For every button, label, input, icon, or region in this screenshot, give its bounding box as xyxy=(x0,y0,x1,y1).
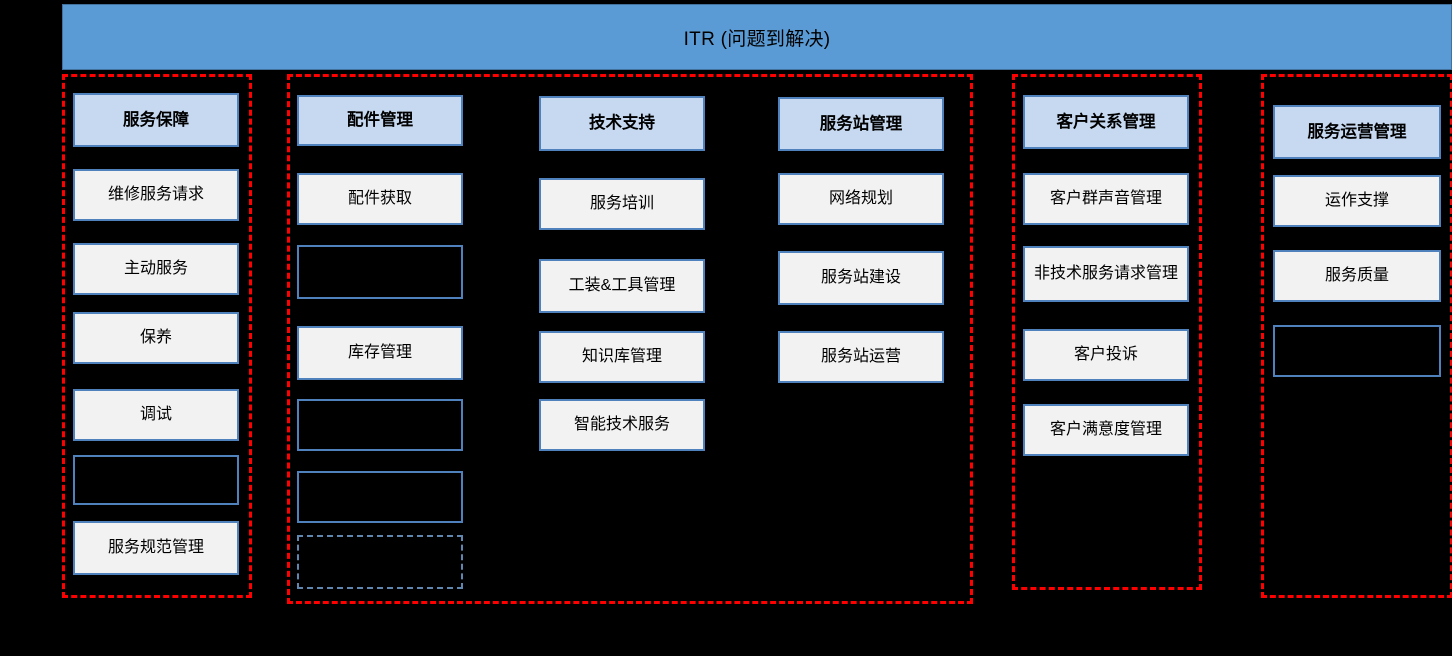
node-service-station-management-1[interactable]: 服务站建设 xyxy=(778,251,944,305)
node-service-operations-management-1[interactable]: 服务质量 xyxy=(1273,250,1441,302)
node-service-assurance-1[interactable]: 主动服务 xyxy=(73,243,239,295)
column-header-service-assurance[interactable]: 服务保障 xyxy=(73,93,239,147)
node-technical-support-1[interactable]: 工装&工具管理 xyxy=(539,259,705,313)
column-header-technical-support[interactable]: 技术支持 xyxy=(539,96,705,151)
node-technical-support-0[interactable]: 服务培训 xyxy=(539,178,705,230)
column-header-service-station-management[interactable]: 服务站管理 xyxy=(778,97,944,151)
node-empty-service-operations-management-2[interactable] xyxy=(1273,325,1441,377)
node-service-operations-management-0[interactable]: 运作支撑 xyxy=(1273,175,1441,227)
node-service-station-management-0[interactable]: 网络规划 xyxy=(778,173,944,225)
node-empty-parts-management-4[interactable] xyxy=(297,471,463,523)
node-customer-relationship-management-2[interactable]: 客户投诉 xyxy=(1023,329,1189,381)
node-empty-service-assurance-4[interactable] xyxy=(73,455,239,505)
node-service-assurance-5[interactable]: 服务规范管理 xyxy=(73,521,239,575)
node-empty-parts-management-1[interactable] xyxy=(297,245,463,299)
node-service-assurance-0[interactable]: 维修服务请求 xyxy=(73,169,239,221)
node-service-assurance-2[interactable]: 保养 xyxy=(73,312,239,364)
node-service-assurance-3[interactable]: 调试 xyxy=(73,389,239,441)
itr-banner: ITR (问题到解决) xyxy=(62,4,1452,70)
diagram-canvas: ITR (问题到解决) 服务保障维修服务请求主动服务保养调试服务规范管理配件管理… xyxy=(0,0,1452,656)
node-service-station-management-2[interactable]: 服务站运营 xyxy=(778,331,944,383)
node-customer-relationship-management-1[interactable]: 非技术服务请求管理 xyxy=(1023,246,1189,302)
column-header-service-operations-management[interactable]: 服务运营管理 xyxy=(1273,105,1441,159)
node-empty-parts-management-3[interactable] xyxy=(297,399,463,451)
node-customer-relationship-management-3[interactable]: 客户满意度管理 xyxy=(1023,404,1189,456)
node-technical-support-2[interactable]: 知识库管理 xyxy=(539,331,705,383)
node-customer-relationship-management-0[interactable]: 客户群声音管理 xyxy=(1023,173,1189,225)
banner-title: ITR (问题到解决) xyxy=(684,24,831,51)
column-header-parts-management[interactable]: 配件管理 xyxy=(297,95,463,146)
column-header-customer-relationship-management[interactable]: 客户关系管理 xyxy=(1023,95,1189,149)
node-parts-management-2[interactable]: 库存管理 xyxy=(297,326,463,380)
node-technical-support-3[interactable]: 智能技术服务 xyxy=(539,399,705,451)
node-parts-management-0[interactable]: 配件获取 xyxy=(297,173,463,225)
node-empty-parts-management-5[interactable] xyxy=(297,535,463,589)
